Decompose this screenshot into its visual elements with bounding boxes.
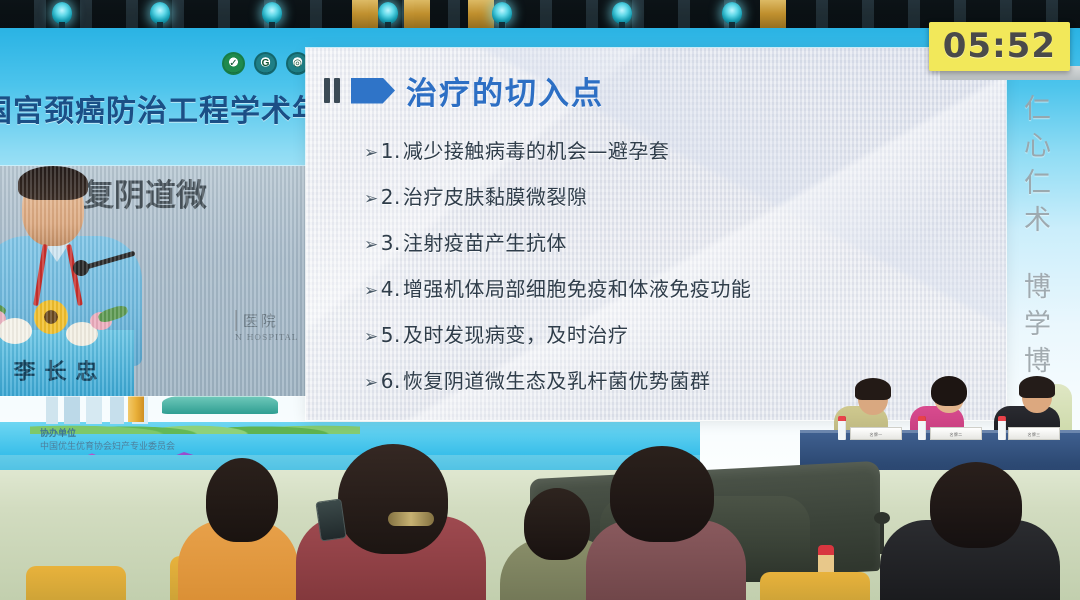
- title-arrow-icon: [351, 78, 395, 104]
- bullet-marker-icon: ➢: [364, 281, 379, 301]
- list-item: ➢ 1. 减少接触病毒的机会—避孕套: [364, 135, 1006, 164]
- name-card: 名牌三: [1008, 427, 1060, 440]
- conference-title: 国宫颈癌防治工程学术年会: [0, 86, 354, 130]
- bullet-number: 3.: [381, 231, 401, 255]
- bullet-number: 4.: [381, 277, 401, 301]
- slide-bullet-list: ➢ 1. 减少接触病毒的机会—避孕套 ➢ 2. 治疗皮肤黏膜微裂隙 ➢ 3. 注…: [364, 135, 1006, 394]
- panelist-head: [1022, 381, 1052, 413]
- org-logo-1-icon: ✓: [222, 52, 245, 75]
- stage-light-icon: [612, 2, 632, 24]
- projected-slide: 治疗的切入点 ➢ 1. 减少接触病毒的机会—避孕套 ➢ 2. 治疗皮肤黏膜微裂隙…: [306, 48, 1006, 420]
- bullet-number: 2.: [381, 185, 401, 209]
- water-bottle: [838, 416, 846, 440]
- sponsor-label: 协办单位: [40, 428, 175, 441]
- hair-clip: [388, 512, 434, 526]
- bullet-marker-icon: ➢: [364, 189, 379, 209]
- sponsor-block: 协办单位 中国优生优育协会妇产专业委员会: [40, 428, 175, 454]
- bullet-marker-icon: ➢: [364, 143, 379, 163]
- list-item: ➢ 3. 注射疫苗产生抗体: [364, 227, 1006, 256]
- timer-value: 05:52: [943, 26, 1056, 66]
- water-bottle: [998, 416, 1006, 440]
- audience-head: [338, 444, 448, 554]
- bullet-number: 5.: [381, 323, 401, 347]
- bullet-text: 及时发现病变，及时治疗: [403, 319, 629, 348]
- screen-scanlines: [0, 166, 306, 396]
- stage-light-icon: [492, 2, 512, 24]
- name-card: 名牌一: [850, 427, 902, 440]
- bullet-text: 治疗皮肤黏膜微裂隙: [403, 181, 588, 210]
- list-item: ➢ 4. 增强机体局部细胞免疫和体液免疫功能: [364, 273, 1006, 302]
- bullet-text: 注射疫苗产生抗体: [403, 227, 567, 256]
- panelist-hair: [855, 378, 891, 400]
- audience-head: [610, 446, 714, 542]
- slide-title-row: 治疗的切入点: [324, 68, 1006, 113]
- stage-light-icon: [722, 2, 742, 24]
- countdown-timer: 05:52: [929, 22, 1070, 71]
- title-bars-icon: [324, 78, 340, 103]
- org-logo-2-icon: G: [254, 52, 277, 75]
- smartphone: [315, 498, 346, 541]
- bullet-number: 1.: [381, 139, 401, 163]
- panelist-hair: [931, 376, 967, 406]
- stage-light-icon: [150, 2, 170, 24]
- speaker-video-feed: 5.及时发现 恢复阴道微 医院 N HOSPITAL 李长忠: [0, 166, 306, 396]
- list-item: ➢ 5. 及时发现病变，及时治疗: [364, 319, 1006, 348]
- audience-chair: [760, 572, 870, 600]
- bullet-text: 减少接触病毒的机会—避孕套: [403, 135, 670, 164]
- bullet-text: 恢复阴道微生态及乳杆菌优势菌群: [403, 365, 711, 394]
- bullet-marker-icon: ➢: [364, 327, 379, 347]
- conference-scene: ✓ G ◎ 国宫颈癌防治工程学术年会 协办单位 中国优生优育协会妇产专业委员会: [0, 0, 1080, 600]
- banner-logo-group: ✓ G ◎: [222, 52, 309, 75]
- panelist-head: [858, 383, 888, 415]
- list-item: ➢ 2. 治疗皮肤黏膜微裂隙: [364, 181, 1006, 210]
- sponsor-organization: 中国优生优育协会妇产专业委员会: [40, 441, 175, 454]
- stage-light-icon: [262, 2, 282, 24]
- bullet-number: 6.: [381, 369, 401, 393]
- panelist-head: [934, 381, 964, 413]
- stage-light-icon: [378, 2, 398, 24]
- audience-head: [206, 458, 278, 542]
- audience-chair: [26, 566, 126, 600]
- panelist-hair: [1019, 376, 1055, 398]
- bullet-marker-icon: ➢: [364, 373, 379, 393]
- stage-light-icon: [52, 2, 72, 24]
- motto-vertical-1: 仁心仁术: [1015, 94, 1054, 242]
- bullet-text: 增强机体局部细胞免疫和体液免疫功能: [403, 273, 752, 302]
- name-card: 名牌二: [930, 427, 982, 440]
- audience-head: [930, 462, 1022, 548]
- bullet-marker-icon: ➢: [364, 235, 379, 255]
- audience-head: [524, 488, 590, 560]
- slide-title: 治疗的切入点: [406, 68, 604, 113]
- water-bottle: [918, 416, 926, 440]
